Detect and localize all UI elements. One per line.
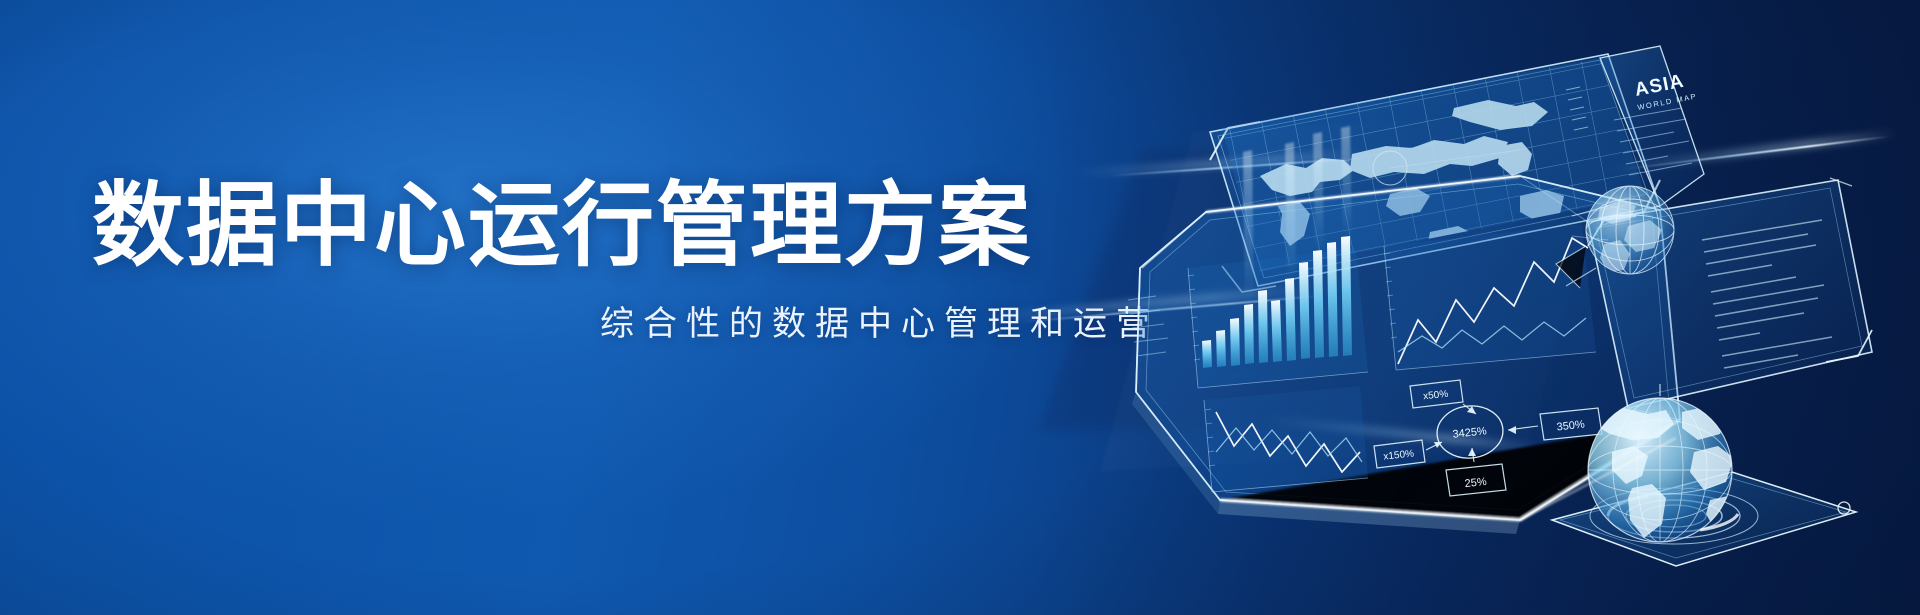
page-title: 数据中心运行管理方案	[92, 178, 1032, 275]
flow-bottom-label: 25%	[1464, 476, 1487, 490]
line-chart-upper	[1384, 224, 1596, 370]
hero-banner: 数据中心运行管理方案 综合性的数据中心管理和运营	[0, 0, 1920, 615]
line-chart-lower	[1204, 386, 1368, 492]
hud-illustration: ASIA WORLD MAP	[960, 0, 1920, 615]
hud-vector-scene: ASIA WORLD MAP	[960, 0, 1920, 615]
